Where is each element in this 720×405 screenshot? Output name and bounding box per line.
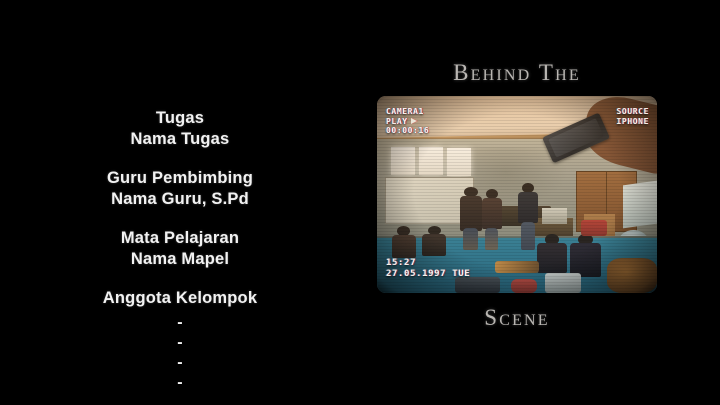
- osd-date: 27.05.1997 TUE: [386, 269, 470, 280]
- osd-timecode: 00:00:16: [386, 126, 429, 136]
- person-body: [460, 196, 482, 231]
- osd-bottom-left: 15:27 27.05.1997 TUE: [386, 258, 470, 279]
- red-bag: [581, 220, 606, 236]
- osd-source-value: IPHONE: [617, 117, 650, 127]
- person-seated: [422, 226, 447, 256]
- window-pane: [391, 147, 415, 175]
- osd-source-label: SOURCE: [617, 107, 650, 117]
- white-container: [545, 273, 581, 293]
- rope-pile: [607, 258, 657, 293]
- person-body: [537, 243, 568, 273]
- credits-block: Tugas Nama Tugas Guru Pembimbing Nama Gu…: [20, 108, 340, 393]
- person-legs: [521, 222, 534, 250]
- osd-time: 15:27: [386, 258, 470, 269]
- person-legs: [485, 228, 499, 250]
- person-standing: [458, 187, 483, 250]
- person-seated: [391, 226, 416, 258]
- white-panel: [623, 180, 657, 228]
- credit-line: Nama Guru, S.Pd: [20, 189, 340, 210]
- osd-play-row: PLAY: [386, 117, 429, 127]
- red-object: [511, 279, 536, 293]
- paper-box: [542, 208, 567, 224]
- video-thumbnail[interactable]: CAMERA1 PLAY 00:00:16 SOURCE IPHONE 15:2…: [377, 96, 657, 293]
- person-body: [422, 234, 446, 255]
- list-item: -: [20, 313, 340, 333]
- list-item: -: [20, 333, 340, 353]
- person-body: [570, 243, 601, 277]
- window-pane: [419, 147, 443, 175]
- credit-line: Nama Mapel: [20, 249, 340, 270]
- credit-group-guru: Guru Pembimbing Nama Guru, S.Pd: [20, 168, 340, 210]
- list-item: -: [20, 373, 340, 393]
- title-behind-the: Behind The: [377, 60, 657, 86]
- credit-line: Anggota Kelompok: [20, 288, 340, 309]
- title-card-slide: Tugas Nama Tugas Guru Pembimbing Nama Gu…: [0, 0, 720, 405]
- osd-camera-label: CAMERA1: [386, 107, 429, 117]
- list-item: -: [20, 353, 340, 373]
- credit-group-mapel: Mata Pelajaran Nama Mapel: [20, 228, 340, 270]
- credit-group-tugas: Tugas Nama Tugas: [20, 108, 340, 150]
- person-legs: [463, 228, 479, 249]
- person-body: [518, 192, 538, 223]
- play-icon: [411, 118, 417, 124]
- floor-items: [455, 277, 500, 293]
- person-seated: [537, 234, 568, 273]
- video-scene-image: CAMERA1 PLAY 00:00:16 SOURCE IPHONE 15:2…: [377, 96, 657, 293]
- window-pane: [447, 148, 471, 176]
- credit-line: Nama Tugas: [20, 129, 340, 150]
- credit-group-anggota: Anggota Kelompok - - - -: [20, 288, 340, 393]
- member-list: - - - -: [20, 313, 340, 393]
- title-scene: Scene: [377, 305, 657, 331]
- osd-mode-label: PLAY: [386, 117, 408, 127]
- floor-mat: [495, 261, 540, 273]
- person-body: [392, 235, 416, 258]
- osd-top-left: CAMERA1 PLAY 00:00:16: [386, 107, 429, 136]
- person-body: [482, 198, 502, 230]
- person-seated: [570, 234, 601, 277]
- credit-line: Guru Pembimbing: [20, 168, 340, 189]
- person-standing: [481, 189, 503, 250]
- osd-top-right: SOURCE IPHONE: [617, 107, 650, 126]
- credit-line: Tugas: [20, 108, 340, 129]
- credit-line: Mata Pelajaran: [20, 228, 340, 249]
